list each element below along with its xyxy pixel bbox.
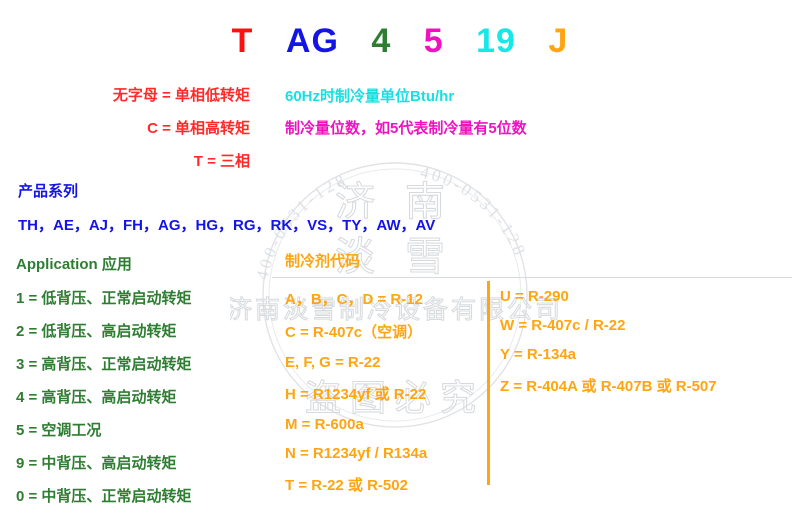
code-segment-application: 4	[371, 22, 391, 60]
application-row: 2 = 低背压、高启动转矩	[16, 320, 191, 341]
capacity-digits-note: 制冷量位数，如5代表制冷量有5位数	[285, 117, 527, 138]
refrigerant-column-right: U = R-290 W = R-407c / R-22 Y = R-134a Z…	[500, 288, 717, 408]
code-segment-capacity: 19	[476, 22, 516, 60]
capacity-unit-note: 60Hz时制冷量单位Btu/hr	[285, 85, 454, 106]
application-row: 4 = 高背压、高启动转矩	[16, 386, 191, 407]
refrigerant-row: H = R1234yf 或 R-22	[285, 383, 427, 404]
motor-row: T = 三相	[0, 150, 250, 171]
application-row: 3 = 高背压、正常启动转矩	[16, 353, 191, 374]
model-code-line: T AG 4 5 19 J	[0, 22, 800, 61]
application-row: 9 = 中背压、高启动转矩	[16, 452, 191, 473]
refrigerant-row: Y = R-134a	[500, 346, 717, 363]
motor-row: C = 单相高转矩	[0, 117, 250, 138]
product-series-title: 产品系列	[18, 180, 435, 201]
refrigerant-row: W = R-407c / R-22	[500, 317, 717, 334]
refrigerant-row: Z = R-404A 或 R-407B 或 R-507	[500, 375, 717, 396]
refrigerant-row: C = R-407c（空调）	[285, 321, 427, 342]
refrigerant-title: 制冷剂代码	[285, 250, 360, 271]
refrigerant-column-left: A，B，C，D = R-12 C = R-407c（空调） E, F, G = …	[285, 288, 427, 507]
code-segment-digits: 5	[424, 22, 444, 60]
code-segment-series: AG	[286, 22, 339, 60]
code-segment-motor: T	[232, 22, 254, 60]
product-series-list: TH，AE，AJ，FH，AG，HG，RG，RK，VS，TY，AW，AV	[18, 214, 435, 235]
application-row: 5 = 空调工况	[16, 419, 191, 440]
refrigerant-row: U = R-290	[500, 288, 717, 305]
refrigerant-horizontal-rule	[272, 277, 792, 278]
application-row: 1 = 低背压、正常启动转矩	[16, 287, 191, 308]
code-segment-refrigerant: J	[548, 22, 568, 60]
application-row: 0 = 中背压、正常启动转矩	[16, 485, 191, 506]
refrigerant-row: T = R-22 或 R-502	[285, 474, 427, 495]
refrigerant-row: N = R1234yf / R134a	[285, 445, 427, 462]
refrigerant-row: E, F, G = R-22	[285, 354, 427, 371]
product-series-legend: 产品系列 TH，AE，AJ，FH，AG，HG，RG，RK，VS，TY，AW，AV	[18, 180, 435, 235]
refrigerant-row: M = R-600a	[285, 416, 427, 433]
refrigerant-vertical-divider	[487, 281, 490, 485]
application-legend: Application 应用 1 = 低背压、正常启动转矩 2 = 低背压、高启…	[16, 253, 191, 518]
refrigerant-row: A，B，C，D = R-12	[285, 288, 427, 309]
motor-row: 无字母 = 单相低转矩	[0, 84, 250, 105]
application-title: Application 应用	[16, 253, 191, 274]
motor-phase-legend: 无字母 = 单相低转矩 C = 单相高转矩 T = 三相	[0, 84, 250, 183]
